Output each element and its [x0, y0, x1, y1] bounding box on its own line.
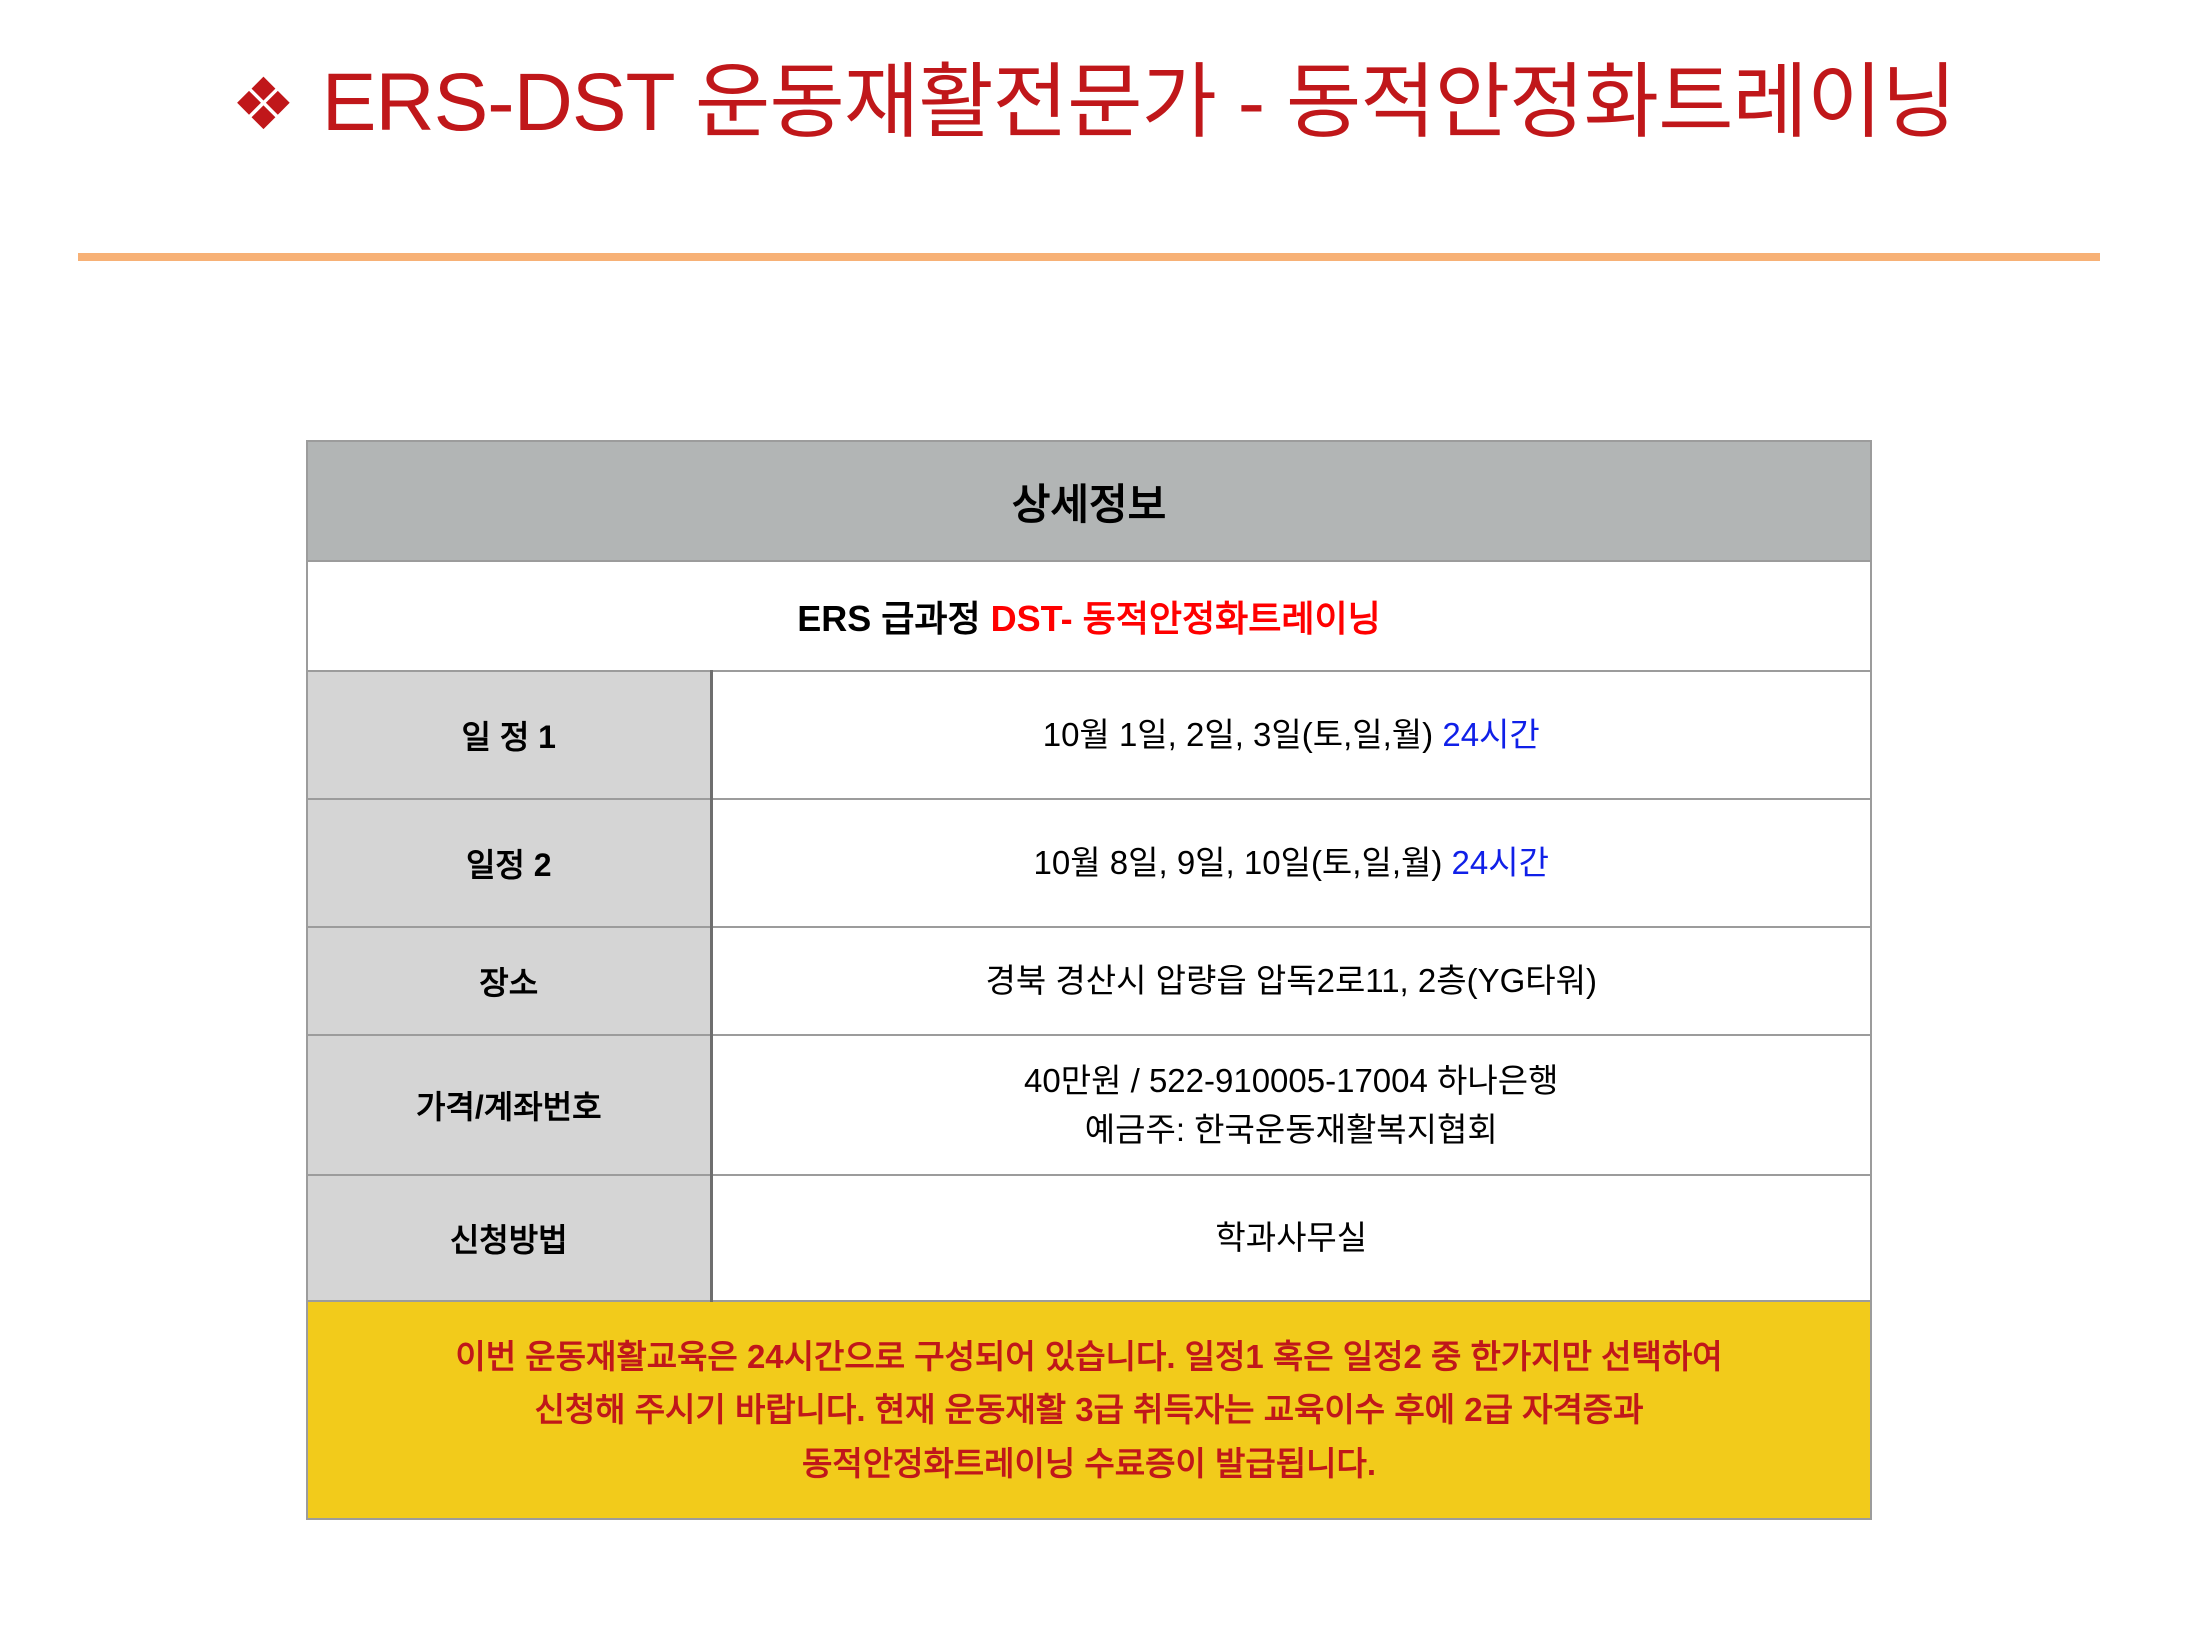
notice-line-1: 이번 운동재활교육은 24시간으로 구성되어 있습니다. 일정1 혹은 일정2 …: [338, 1330, 1840, 1383]
row-value-price-account: 40만원 / 522-910005-17004 하나은행 예금주: 한국운동재활…: [711, 1035, 1871, 1175]
course-subtitle: ERS 급과정 DST- 동적안정화트레이닝: [307, 561, 1871, 671]
table-row-header: 상세정보: [307, 441, 1871, 561]
table-header-title: 상세정보: [307, 441, 1871, 561]
row-label-price-account: 가격/계좌번호: [307, 1035, 711, 1175]
title-divider: [78, 253, 2100, 261]
row-label-application-method: 신청방법: [307, 1175, 711, 1301]
flower-bullet-icon: ❖: [231, 69, 296, 141]
course-subtitle-black: ERS 급과정: [797, 598, 990, 639]
row-label-location: 장소: [307, 927, 711, 1035]
table-row-subtitle: ERS 급과정 DST- 동적안정화트레이닝: [307, 561, 1871, 671]
table-row-notice: 이번 운동재활교육은 24시간으로 구성되어 있습니다. 일정1 혹은 일정2 …: [307, 1301, 1871, 1519]
schedule-2-dates: 10월 8일, 9일, 10일(토,일,월): [1034, 844, 1452, 881]
table-row: 가격/계좌번호 40만원 / 522-910005-17004 하나은행 예금주…: [307, 1035, 1871, 1175]
notice-line-3: 동적안정화트레이닝 수료증이 발급됩니다.: [338, 1437, 1840, 1490]
row-label-schedule-1: 일 정 1: [307, 671, 711, 799]
notice-banner: 이번 운동재활교육은 24시간으로 구성되어 있습니다. 일정1 혹은 일정2 …: [307, 1301, 1871, 1519]
price-account-line-2: 예금주: 한국운동재활복지협회: [713, 1105, 1871, 1155]
table-row: 신청방법 학과사무실: [307, 1175, 1871, 1301]
course-detail-table: 상세정보 ERS 급과정 DST- 동적안정화트레이닝 일 정 1 10월 1일…: [306, 440, 1872, 1520]
course-subtitle-red: DST- 동적안정화트레이닝: [991, 598, 1381, 639]
schedule-2-hours: 24시간: [1452, 844, 1549, 881]
notice-line-2: 신청해 주시기 바랍니다. 현재 운동재활 3급 취득자는 교육이수 후에 2급…: [338, 1383, 1840, 1436]
table-row: 일정 2 10월 8일, 9일, 10일(토,일,월) 24시간: [307, 799, 1871, 927]
row-value-schedule-2: 10월 8일, 9일, 10일(토,일,월) 24시간: [711, 799, 1871, 927]
row-label-schedule-2: 일정 2: [307, 799, 711, 927]
price-account-line-1: 40만원 / 522-910005-17004 하나은행: [713, 1056, 1871, 1106]
schedule-1-hours: 24시간: [1442, 716, 1539, 753]
page-title: ERS-DST 운동재활전문가 - 동적안정화트레이닝: [322, 60, 1956, 146]
row-value-schedule-1: 10월 1일, 2일, 3일(토,일,월) 24시간: [711, 671, 1871, 799]
table-row: 장소 경북 경산시 압량읍 압독2로11, 2층(YG타워): [307, 927, 1871, 1035]
page-title-row: ❖ ERS-DST 운동재활전문가 - 동적안정화트레이닝: [0, 60, 2187, 146]
table-row: 일 정 1 10월 1일, 2일, 3일(토,일,월) 24시간: [307, 671, 1871, 799]
schedule-1-dates: 10월 1일, 2일, 3일(토,일,월): [1043, 716, 1443, 753]
row-value-location: 경북 경산시 압량읍 압독2로11, 2층(YG타워): [711, 927, 1871, 1035]
row-value-application-method: 학과사무실: [711, 1175, 1871, 1301]
